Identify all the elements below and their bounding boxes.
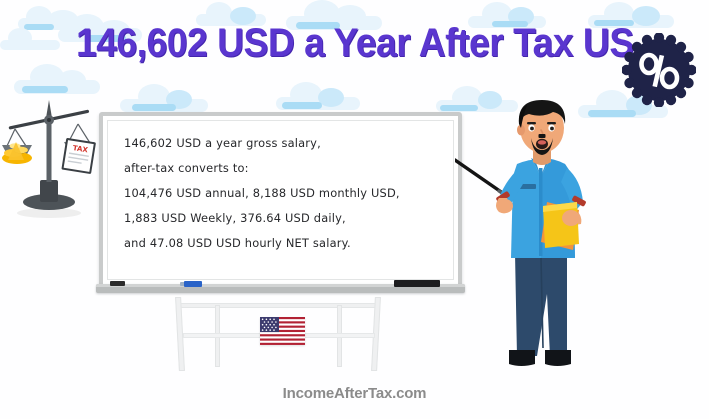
- folder-icon: [541, 202, 579, 250]
- board-line-1: 146,602 USD a year gross salary,: [124, 131, 443, 156]
- footer: IncomeAfterTax.com: [0, 385, 709, 403]
- board-line-2: after-tax converts to:: [124, 156, 443, 181]
- board-line-4: 1,883 USD Weekly, 376.64 USD daily,: [124, 206, 443, 231]
- whiteboard-eraser-icon: [394, 280, 440, 287]
- balance-scales-icon: TAX: [2, 96, 107, 221]
- tax-document-icon: TAX: [61, 138, 96, 174]
- us-flag-icon: [260, 317, 305, 345]
- blue-marker-icon: [184, 281, 202, 287]
- infographic-canvas: 146,602 USD a Year After Tax US: [0, 0, 709, 419]
- whiteboard-stand: [105, 297, 455, 375]
- stand-crossbar-top: [179, 303, 379, 308]
- teacher-with-pointer-illustration: [455, 98, 655, 388]
- board-line-3: 104,476 USD annual, 8,188 USD monthly US…: [124, 181, 443, 206]
- cloud-left-mid: [14, 64, 100, 94]
- cloud-center-low-1: [120, 84, 208, 112]
- black-marker-icon: [110, 281, 125, 286]
- cloud-center-low-2: [276, 82, 360, 110]
- page-title-wrap: 146,602 USD a Year After Tax US: [0, 20, 709, 66]
- whiteboard-text: 146,602 USD a year gross salary, after-t…: [124, 131, 443, 256]
- whiteboard-surface: 146,602 USD a year gross salary, after-t…: [107, 120, 454, 280]
- site-name: IncomeAfterTax.com: [283, 385, 427, 402]
- percent-badge-icon: [622, 33, 696, 107]
- marker-tray: [96, 284, 465, 293]
- page-title: 146,602 USD a Year After Tax US: [76, 20, 634, 66]
- whiteboard-frame: 146,602 USD a year gross salary, after-t…: [99, 112, 462, 288]
- whiteboard: 146,602 USD a year gross salary, after-t…: [99, 112, 462, 297]
- board-line-5: and 47.08 USD USD hourly NET salary.: [124, 231, 443, 256]
